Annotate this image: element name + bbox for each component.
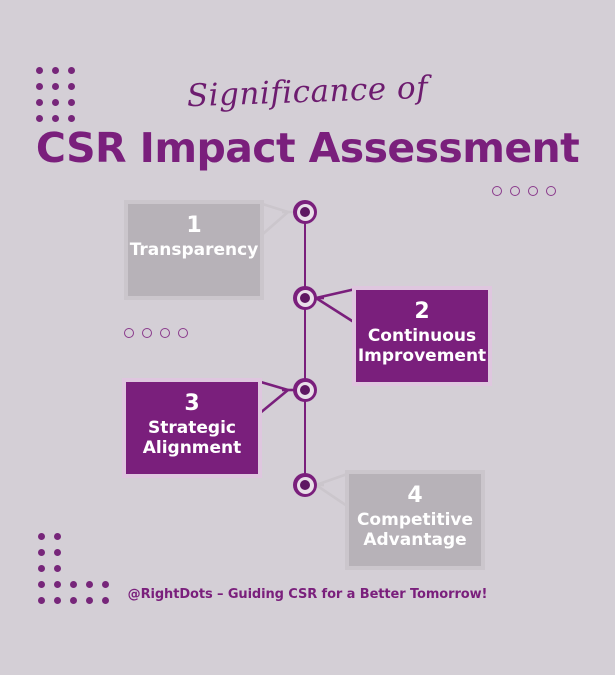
step-number-3: 3 bbox=[184, 390, 199, 418]
timeline-node-1[interactable] bbox=[293, 200, 317, 224]
decorative-dot bbox=[54, 533, 61, 540]
step-card-3[interactable]: 3 Strategic Alignment bbox=[122, 378, 262, 478]
decorative-dot bbox=[38, 533, 45, 540]
decorative-dot-empty bbox=[102, 533, 109, 540]
decorative-dot-empty bbox=[102, 549, 109, 556]
decorative-dot bbox=[36, 67, 43, 74]
step-label-2: Continuous Improvement bbox=[358, 326, 486, 367]
decorative-ring-icon bbox=[142, 328, 152, 338]
timeline-node-4[interactable] bbox=[293, 473, 317, 497]
hollow-circle-row-mid-left-icon bbox=[124, 328, 188, 338]
timeline-node-2[interactable] bbox=[293, 286, 317, 310]
hollow-circle-row-right-icon bbox=[492, 186, 556, 196]
decorative-ring-icon bbox=[546, 186, 556, 196]
footer-tagline: @RightDots – Guiding CSR for a Better To… bbox=[0, 587, 615, 602]
decorative-ring-icon bbox=[528, 186, 538, 196]
step-label-4: Competitive Advantage bbox=[357, 510, 473, 551]
decorative-ring-icon bbox=[178, 328, 188, 338]
timeline-node-3[interactable] bbox=[293, 378, 317, 402]
decorative-dot-empty bbox=[70, 533, 77, 540]
step-number-4: 4 bbox=[407, 482, 422, 510]
infographic-canvas: Significance of CSR Impact Assessment 1 … bbox=[0, 0, 615, 675]
decorative-ring-icon bbox=[160, 328, 170, 338]
step-number-1: 1 bbox=[186, 212, 201, 240]
decorative-dot-empty bbox=[86, 533, 93, 540]
step-label-1: Transparency bbox=[130, 240, 259, 261]
step-card-2[interactable]: 2 Continuous Improvement bbox=[352, 286, 492, 386]
decorative-dot-empty bbox=[102, 565, 109, 572]
page-title: CSR Impact Assessment bbox=[0, 124, 615, 172]
decorative-ring-icon bbox=[510, 186, 520, 196]
decorative-dot bbox=[54, 549, 61, 556]
step-card-4[interactable]: 4 Competitive Advantage bbox=[345, 470, 485, 570]
step-card-1[interactable]: 1 Transparency bbox=[124, 200, 264, 300]
decorative-ring-icon bbox=[124, 328, 134, 338]
decorative-dot bbox=[68, 67, 75, 74]
decorative-dot-empty bbox=[86, 565, 93, 572]
decorative-dot bbox=[52, 67, 59, 74]
script-heading: Significance of bbox=[0, 63, 615, 120]
step-label-3: Strategic Alignment bbox=[143, 418, 242, 459]
decorative-dot bbox=[38, 549, 45, 556]
decorative-ring-icon bbox=[492, 186, 502, 196]
decorative-dot bbox=[38, 565, 45, 572]
step-number-2: 2 bbox=[414, 298, 429, 326]
decorative-dot-empty bbox=[86, 549, 93, 556]
timeline-spine bbox=[304, 212, 306, 486]
decorative-dot-empty bbox=[70, 565, 77, 572]
decorative-dot-empty bbox=[70, 549, 77, 556]
decorative-dot bbox=[54, 565, 61, 572]
